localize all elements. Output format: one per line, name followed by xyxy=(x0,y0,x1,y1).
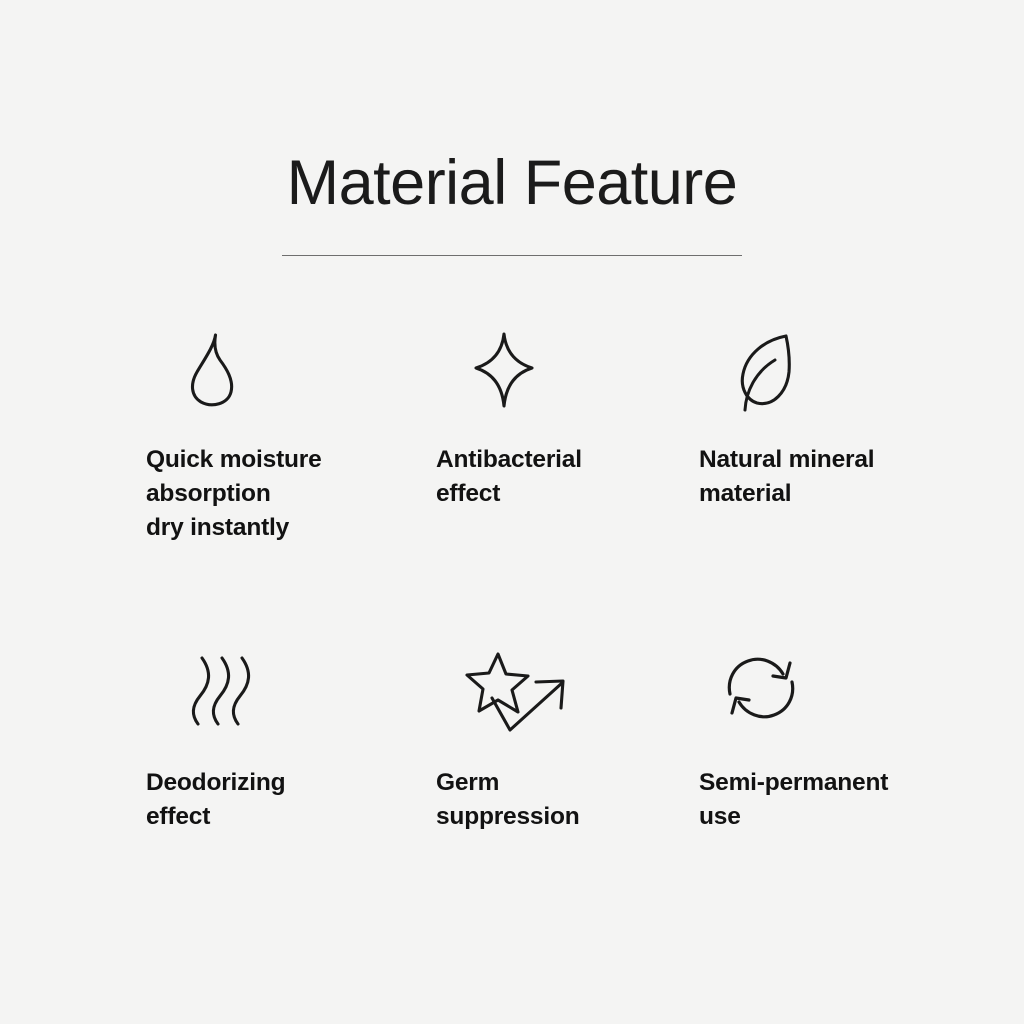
page-title: Material Feature xyxy=(0,150,1024,216)
odor-waves-icon xyxy=(146,650,436,742)
leaf-icon xyxy=(699,330,958,422)
feature-item: Germ suppression xyxy=(436,650,699,834)
feature-label: Germ suppression xyxy=(436,766,699,834)
title-divider xyxy=(282,255,742,256)
feature-item: Deodorizing effect xyxy=(146,650,436,834)
feature-label: Semi-permanent use xyxy=(699,766,958,834)
feature-grid: Quick moisture absorption dry instantly … xyxy=(146,330,958,834)
feature-label: Natural mineral material xyxy=(699,443,958,511)
feature-item: Natural mineral material xyxy=(699,330,958,650)
water-droplet-icon xyxy=(146,330,436,422)
feature-item: Semi-permanent use xyxy=(699,650,958,834)
recycle-arrows-icon xyxy=(699,650,958,742)
material-feature-page: Material Feature Quick moisture absorpti… xyxy=(0,0,1024,1024)
star-arrow-icon xyxy=(436,650,699,742)
feature-item: Quick moisture absorption dry instantly xyxy=(146,330,436,650)
page-header: Material Feature xyxy=(0,150,1024,256)
sparkle-icon xyxy=(436,330,699,422)
feature-label: Antibacterial effect xyxy=(436,443,699,511)
feature-item: Antibacterial effect xyxy=(436,330,699,650)
feature-label: Quick moisture absorption dry instantly xyxy=(146,443,436,544)
feature-label: Deodorizing effect xyxy=(146,766,436,834)
